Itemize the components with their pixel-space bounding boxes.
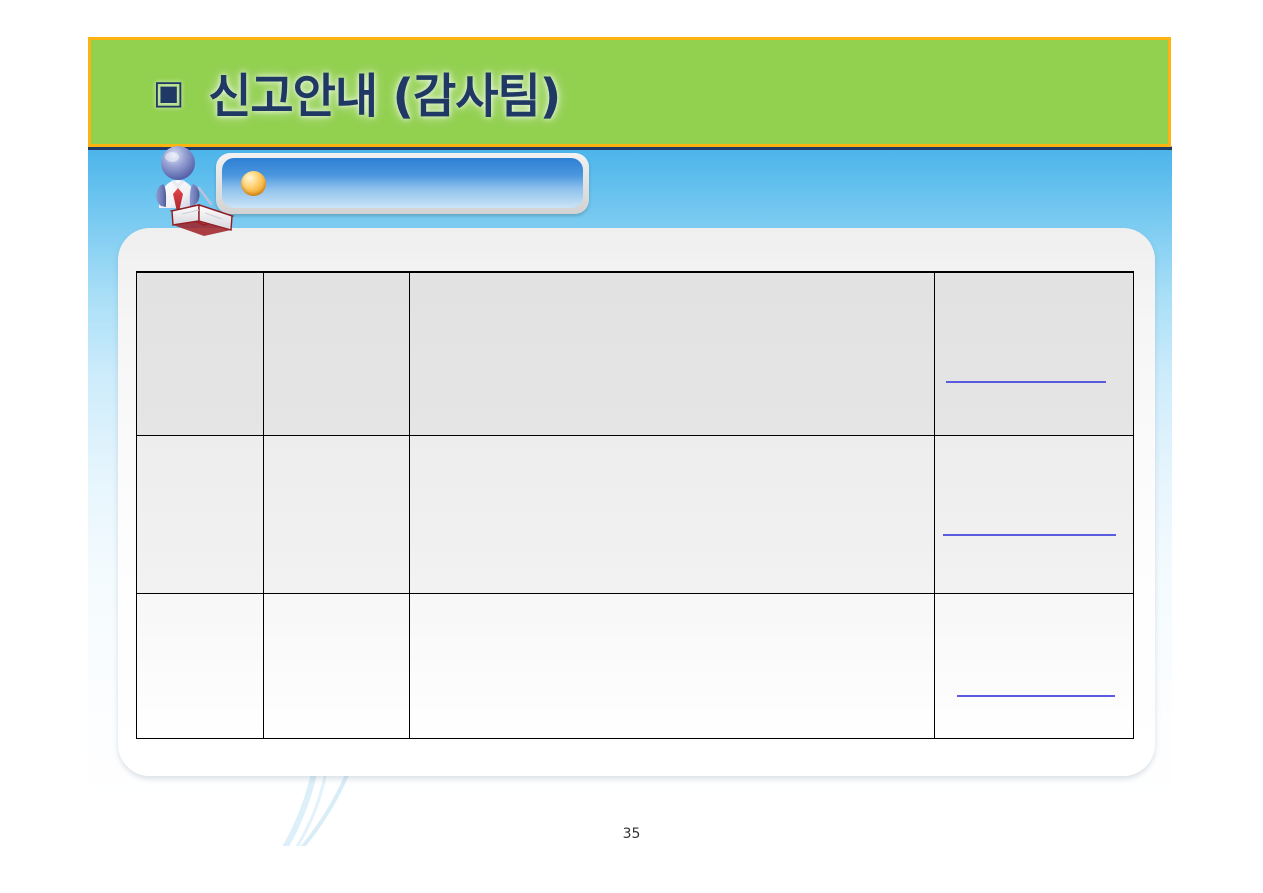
square-bullet-icon: ▣ bbox=[153, 76, 184, 109]
slide-canvas: ▣ 신고안내 (감사팀) bbox=[0, 0, 1263, 893]
table-row bbox=[137, 593, 1134, 738]
table-row bbox=[137, 435, 1134, 593]
page-margin-right bbox=[1172, 0, 1263, 893]
report-link[interactable] bbox=[943, 534, 1116, 536]
subtitle-bar-inner bbox=[222, 158, 583, 208]
subtitle-bar bbox=[216, 153, 589, 214]
info-table bbox=[136, 271, 1134, 739]
page-number: 35 bbox=[0, 826, 1263, 842]
person-reading-book-icon bbox=[142, 144, 238, 240]
table-cell-category bbox=[137, 593, 264, 738]
table-row bbox=[137, 273, 1134, 436]
banner-underline bbox=[88, 147, 1172, 150]
table-cell-category bbox=[137, 273, 264, 436]
background-swirl-3 bbox=[764, 146, 1172, 235]
page-margin-top bbox=[0, 0, 1263, 36]
table-cell-type bbox=[264, 273, 410, 436]
orange-sphere-bullet-icon bbox=[241, 171, 266, 196]
table-cell-description bbox=[410, 273, 935, 436]
table-cell-link bbox=[935, 593, 1134, 738]
table-cell-category bbox=[137, 435, 264, 593]
report-link[interactable] bbox=[957, 695, 1115, 697]
table-cell-type bbox=[264, 435, 410, 593]
report-link[interactable] bbox=[946, 381, 1106, 383]
title-row: ▣ 신고안내 (감사팀) bbox=[153, 58, 560, 127]
table-cell-link bbox=[935, 435, 1134, 593]
table-cell-description bbox=[410, 593, 935, 738]
page-title: 신고안내 (감사팀) bbox=[208, 58, 560, 127]
page-margin-left bbox=[0, 0, 88, 893]
title-banner: ▣ 신고안내 (감사팀) bbox=[88, 37, 1171, 147]
table-cell-description bbox=[410, 435, 935, 593]
table-cell-link bbox=[935, 273, 1134, 436]
table-cell-type bbox=[264, 593, 410, 738]
